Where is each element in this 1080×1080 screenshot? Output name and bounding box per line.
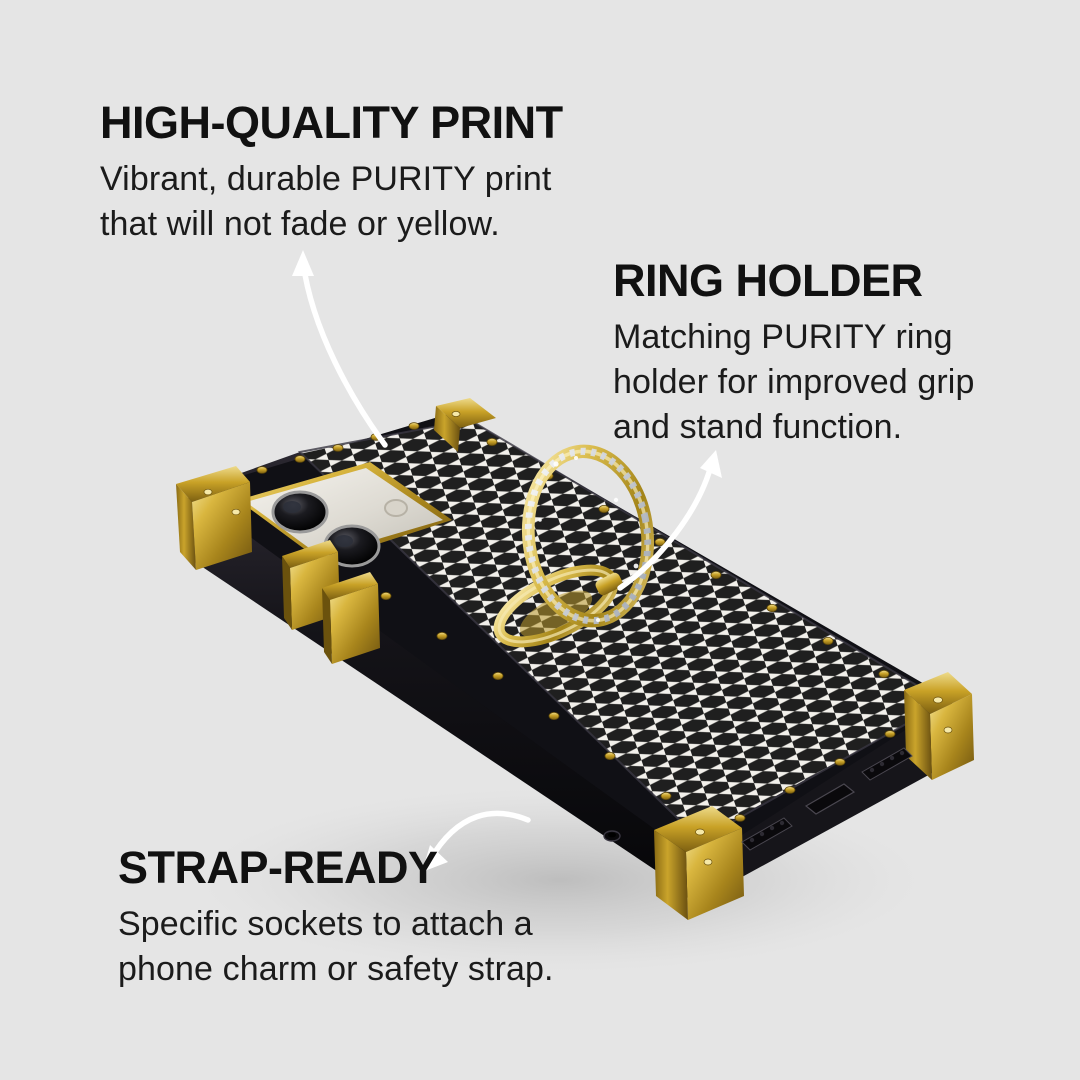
corner-bracket-right bbox=[904, 672, 974, 780]
volume-button-lower bbox=[322, 572, 380, 664]
callout-body-high-quality-print: Vibrant, durable PURITY print that will … bbox=[100, 157, 563, 247]
callout-body-line: Specific sockets to attach a bbox=[118, 902, 554, 947]
camera-flash bbox=[385, 500, 407, 516]
callout-body-line: and stand function. bbox=[613, 405, 974, 450]
callout-body-line: that will not fade or yellow. bbox=[100, 202, 563, 247]
corner-bracket-top-left bbox=[176, 466, 252, 570]
callout-body-ring-holder: Matching PURITY ring holder for improved… bbox=[613, 315, 974, 450]
infographic-canvas: HIGH-QUALITY PRINT Vibrant, durable PURI… bbox=[0, 0, 1080, 1080]
callout-body-strap-ready: Specific sockets to attach a phone charm… bbox=[118, 902, 554, 992]
callout-body-line: phone charm or safety strap. bbox=[118, 947, 554, 992]
callout-body-line: holder for improved grip bbox=[613, 360, 974, 405]
callout-title-strap-ready: STRAP-READY bbox=[118, 845, 554, 890]
callout-title-ring-holder: RING HOLDER bbox=[613, 258, 974, 303]
callout-ring-holder: RING HOLDER Matching PURITY ring holder … bbox=[613, 258, 974, 450]
callout-body-line: Vibrant, durable PURITY print bbox=[100, 157, 563, 202]
camera-lens-1 bbox=[273, 492, 327, 532]
callout-body-line: Matching PURITY ring bbox=[613, 315, 974, 360]
arrow-to-print bbox=[292, 250, 385, 445]
callout-high-quality-print: HIGH-QUALITY PRINT Vibrant, durable PURI… bbox=[100, 100, 563, 247]
callout-strap-ready: STRAP-READY Specific sockets to attach a… bbox=[118, 845, 554, 992]
callout-title-high-quality-print: HIGH-QUALITY PRINT bbox=[100, 100, 563, 145]
strap-socket bbox=[604, 831, 620, 841]
